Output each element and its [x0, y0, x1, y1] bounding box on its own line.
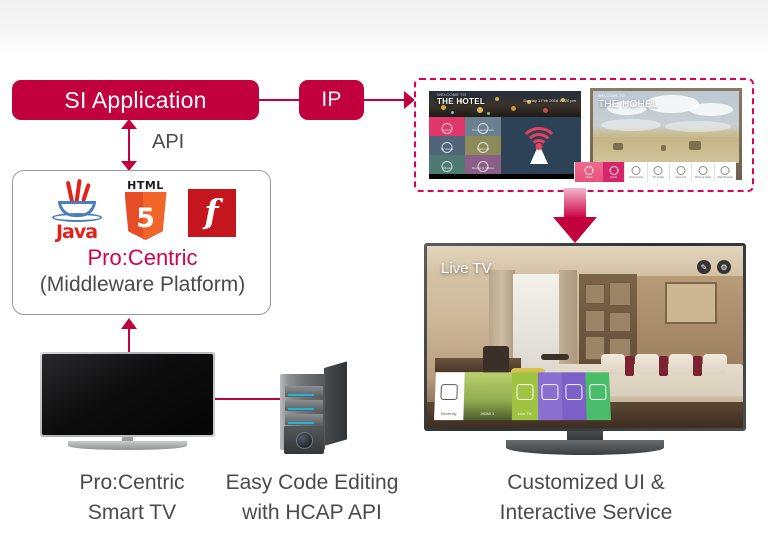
connector-tv-to-middleware — [128, 328, 130, 354]
home-icon — [585, 166, 594, 175]
tile-label: Programme List — [465, 128, 501, 132]
room-pillow — [669, 354, 693, 374]
menu-tile-active[interactable]: Home — [574, 162, 603, 182]
preview-left-footer — [429, 174, 581, 179]
launcher-card-recently[interactable]: Recently — [434, 372, 464, 420]
caption-line: Pro:Centric — [42, 468, 222, 498]
server-front-panel — [280, 374, 325, 450]
caption-customized-ui: Customized UI & Interactive Service — [455, 468, 717, 528]
preview-screen-left[interactable]: WELCOME TO THE HOTEL Sunday 1 Feb 2016 1… — [429, 91, 581, 179]
ui-preview-panel: WELCOME TO THE HOTEL Sunday 1 Feb 2016 1… — [414, 78, 754, 192]
preview-right-title: THE HOHEL — [598, 99, 658, 110]
preview-right-supertitle: WELCOME TO — [598, 94, 625, 98]
launcher-card-hdmi1[interactable]: HDMI 1 — [463, 372, 512, 420]
preview-left-tile-grid: Hotel Programme List TV Guide Apps List … — [429, 117, 501, 174]
api-label: API — [152, 131, 184, 154]
ip-box[interactable]: IP — [299, 80, 364, 120]
launcher-card-live-tv[interactable]: Live TV — [512, 372, 538, 420]
preview-left-clock: Sunday 1 Feb 2016 10:20 pm — [523, 98, 576, 103]
middleware-platform-box[interactable]: Java HTML 5 f Pro:Centric (Middleware Pl… — [12, 170, 271, 315]
caption-pro-centric-smart-tv: Pro:Centric Smart TV — [42, 468, 222, 528]
tv-guide-icon — [654, 166, 663, 175]
tv-stand-base — [68, 441, 187, 450]
preview-tile[interactable]: Movies & Videos — [465, 155, 501, 174]
pro-centric-smart-tv-device[interactable] — [40, 352, 215, 450]
channel-list-icon — [631, 166, 640, 175]
server-bay — [285, 414, 323, 425]
preview-tile[interactable]: Programme List — [465, 117, 501, 136]
caption-line: Interactive Service — [455, 498, 717, 528]
tile-label: Movies & Videos — [465, 166, 501, 170]
launcher-card-label: Live TV — [512, 411, 538, 416]
web-browser-icon — [721, 166, 730, 175]
server-side-panel — [324, 361, 347, 446]
middleware-title: Pro:Centric — [13, 245, 272, 271]
arrow-down-large-icon — [553, 188, 597, 244]
wifi-antenna-icon — [517, 127, 561, 167]
preview-left-title: THE HOTEL — [437, 97, 485, 106]
big-tv-top-right-icons: ✎ ⚙ — [697, 260, 731, 274]
preview-left-body: Hotel Programme List TV Guide Apps List … — [429, 117, 581, 174]
top-gradient-band — [0, 0, 768, 58]
big-tv-launcher-bar: Recently HDMI 1 Live TV — [434, 372, 611, 420]
recently-icon — [441, 384, 459, 400]
caption-line: Easy Code Editing — [212, 468, 412, 498]
apps-list-icon — [676, 166, 685, 175]
caption-line: Customized UI & — [455, 468, 717, 498]
big-tv-stand-base — [506, 440, 664, 455]
launcher-card-label: HDMI 1 — [463, 411, 512, 416]
menu-tile-home[interactable]: Home — [603, 162, 624, 182]
room-pillow — [635, 354, 659, 374]
music-note-icon — [541, 384, 558, 400]
tile-label: Apps List — [465, 147, 501, 151]
live-tv-overlay-label: Live TV — [441, 260, 492, 277]
room-pillow — [703, 354, 727, 374]
preview-tile[interactable]: TV Guide — [429, 136, 465, 155]
caption-line: Smart TV — [42, 498, 222, 528]
preview-right-field — [593, 137, 739, 163]
photo-video-icon — [698, 166, 707, 175]
room-accent-cushion — [625, 356, 634, 376]
menu-tile-label: Photo & Video — [692, 176, 713, 179]
edit-icon[interactable]: ✎ — [697, 260, 711, 274]
room-wall-art — [665, 282, 717, 324]
menu-tile-tv-guide[interactable]: TV Guide — [647, 162, 669, 182]
menu-tile-label: TV Guide — [648, 176, 669, 179]
preview-tile[interactable]: Music — [429, 155, 465, 174]
menu-tile-label: Web Browser — [715, 176, 736, 179]
room-side-table — [541, 354, 569, 360]
launcher-card-label: Recently — [434, 411, 463, 416]
html5-logo-digit: 5 — [122, 205, 170, 232]
si-application-box[interactable]: SI Application — [12, 80, 259, 120]
technology-logo-row: Java HTML 5 f — [13, 179, 272, 241]
home-icon — [609, 166, 618, 175]
flash-logo-glyph: f — [188, 188, 236, 236]
html5-logo: HTML 5 — [122, 179, 170, 241]
launcher-card-photo[interactable] — [561, 372, 586, 420]
ip-label: IP — [321, 88, 341, 112]
flash-logo: f — [188, 189, 236, 237]
si-application-label: SI Application — [64, 87, 206, 114]
settings-gear-icon[interactable]: ⚙ — [717, 260, 731, 274]
menu-tile-label: Apps List — [670, 176, 691, 179]
menu-tile-label: Home — [575, 176, 603, 179]
menu-tile-label: Home — [603, 176, 624, 179]
server-power-knob-icon — [296, 432, 313, 449]
preview-tile[interactable]: Hotel — [429, 117, 465, 136]
caption-easy-code-editing: Easy Code Editing with HCAP API — [212, 468, 412, 528]
customized-ui-tv-device[interactable]: Live TV ✎ ⚙ Recently HDMI 1 Live TV — [424, 243, 746, 455]
preview-screen-right[interactable]: WELCOME TO THE HOHEL Home Home Channel L… — [590, 88, 742, 180]
server-bay — [285, 386, 323, 397]
launcher-card-music[interactable] — [538, 372, 563, 420]
menu-tile-apps-list[interactable]: Apps List — [669, 162, 691, 182]
tile-label: Hotel — [429, 128, 465, 132]
html5-logo-label: HTML — [122, 179, 170, 192]
big-tv-screen: Live TV ✎ ⚙ Recently HDMI 1 Live TV — [427, 246, 743, 428]
server-tower-device[interactable] — [278, 368, 350, 450]
caption-line: with HCAP API — [212, 498, 412, 528]
photo-icon — [565, 384, 582, 400]
tile-label: TV Guide — [429, 147, 465, 151]
java-logo: Java — [50, 181, 104, 241]
preview-tile[interactable]: Apps List — [465, 136, 501, 155]
room-accent-cushion — [693, 356, 702, 376]
preview-right-menu-bar: Home Home Channel List TV Guide Apps Lis… — [574, 162, 736, 182]
preview-left-hero: WELCOME TO THE HOTEL Sunday 1 Feb 2016 1… — [429, 91, 581, 117]
menu-tile-web-browser[interactable]: Web Browser — [714, 162, 736, 182]
middleware-subtitle: (Middleware Platform) — [13, 273, 272, 297]
tile-label: Music — [429, 166, 465, 170]
connector-si-to-ip — [259, 99, 299, 101]
launcher-card-smart[interactable] — [585, 372, 611, 420]
room-pillow — [601, 354, 625, 374]
tv-screen — [42, 354, 213, 435]
menu-tile-photo-video[interactable]: Photo & Video — [691, 162, 713, 182]
server-bay — [285, 400, 323, 411]
java-logo-label: Java — [50, 221, 104, 243]
menu-tile-label: Channel List — [625, 176, 646, 179]
antenna-icon — [516, 384, 533, 400]
room-accent-cushion — [659, 356, 668, 376]
preview-right-screen: WELCOME TO THE HOHEL — [593, 91, 739, 163]
menu-tile-channel-list[interactable]: Channel List — [624, 162, 646, 182]
smart-share-icon — [589, 384, 607, 400]
